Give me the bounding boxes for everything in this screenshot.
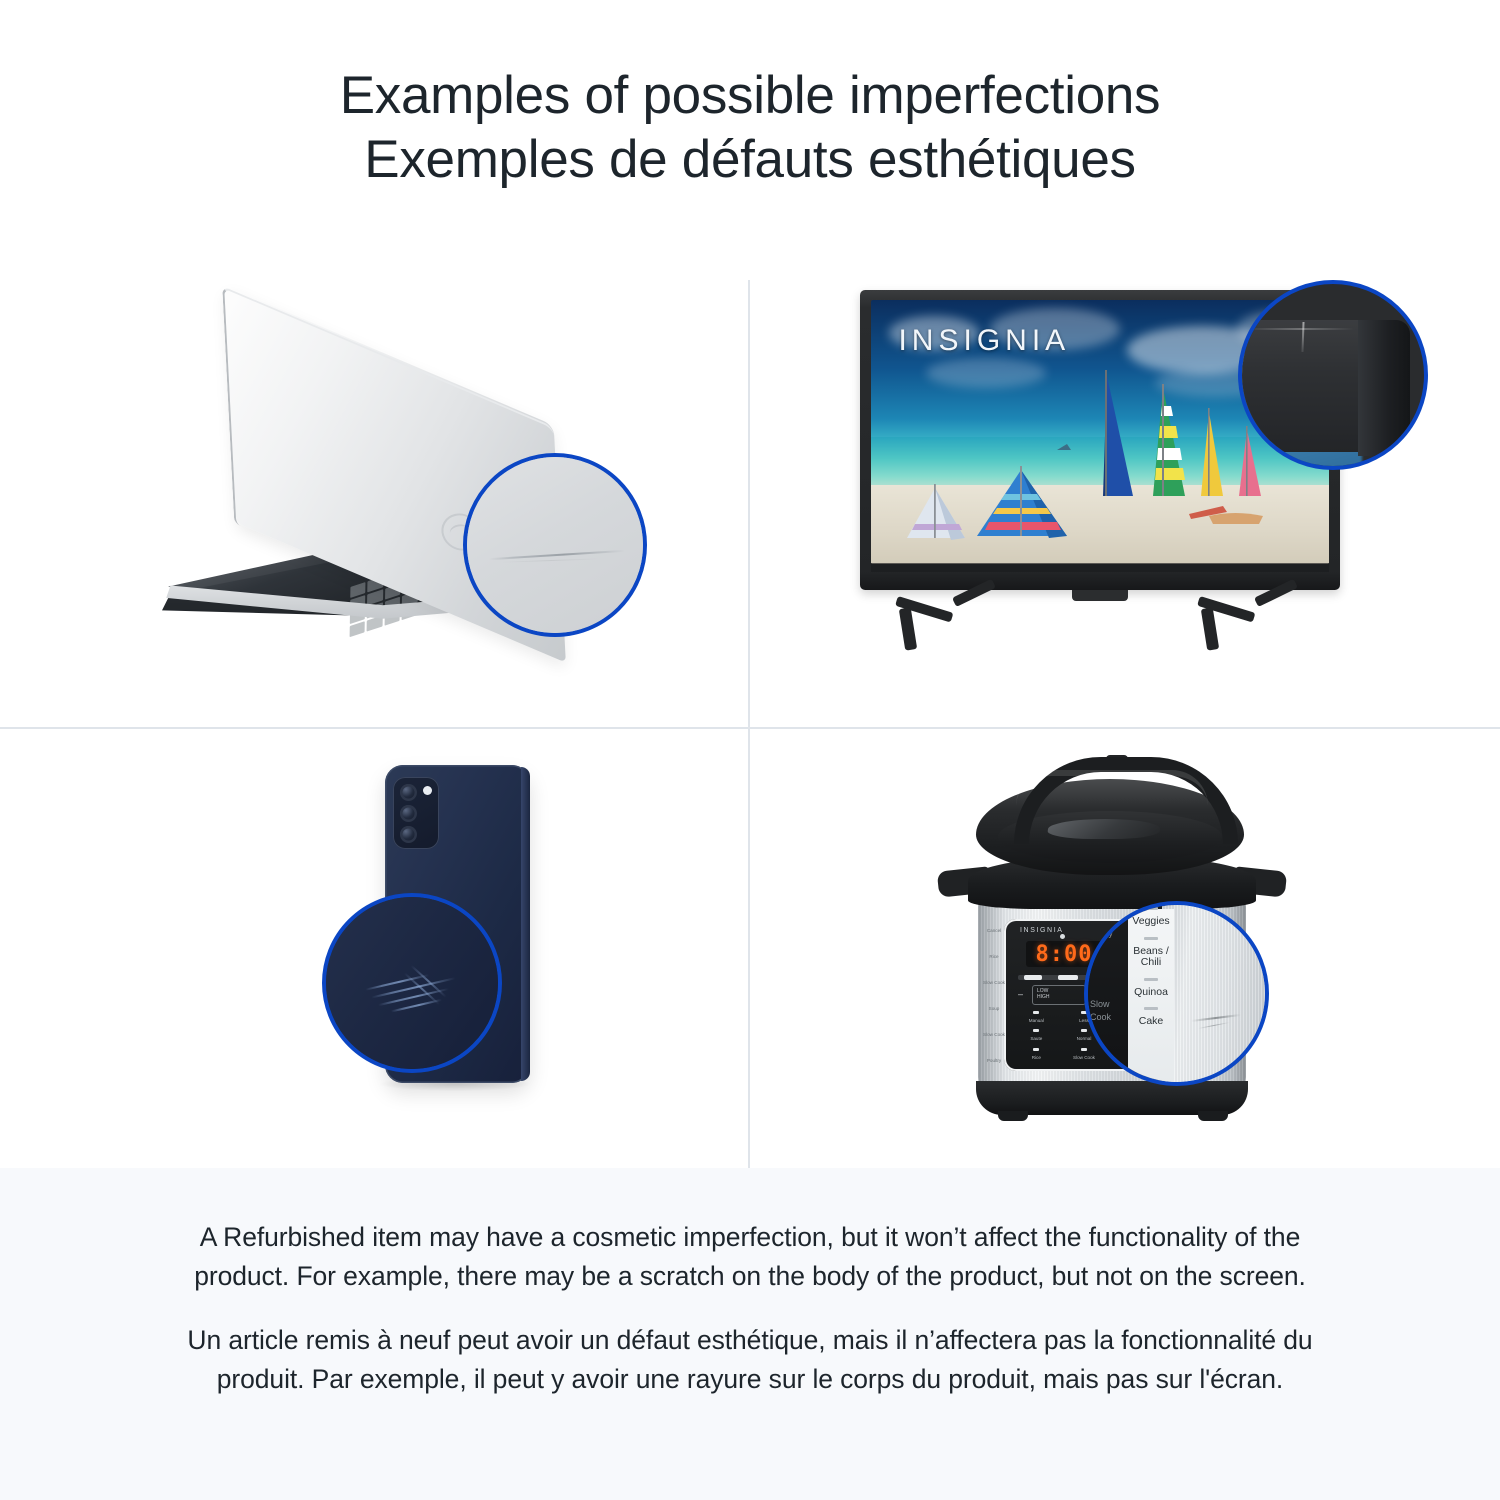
- cooker-left-label-column: Cancel Rice Slow Cook Soup Slow Cook Pou…: [982, 917, 1006, 1073]
- description-paragraph-fr: Un article remis à neuf peut avoir un dé…: [185, 1321, 1315, 1399]
- cooker-brand-label: INSIGNIA: [1020, 927, 1064, 934]
- tv-bottom-bezel: [871, 563, 1329, 572]
- cooker-foot: [1198, 1111, 1228, 1121]
- cooker-display-time: 8:00: [1036, 942, 1093, 967]
- description-paragraph-en: A Refurbished item may have a cosmetic i…: [185, 1218, 1315, 1296]
- pressure-cooker-image: INSIGNIA 8:00 LOWHIGH – + Manual Less De…: [942, 751, 1302, 1151]
- cooker-left-label: Soup: [989, 1006, 1000, 1011]
- magnified-tv-bezel-side: [1358, 320, 1410, 456]
- cooker-left-label: Slow Cook: [983, 980, 1005, 985]
- cooker-key[interactable]: Rice: [1014, 1048, 1059, 1063]
- camera-lens-icon: [400, 805, 417, 822]
- cooker-minus-button[interactable]: –: [1018, 989, 1023, 999]
- magnified-cooker-button[interactable]: Veggies: [1128, 916, 1174, 928]
- scratch-mark-secondary: [500, 558, 603, 563]
- magnified-cooker-button[interactable]: Cake: [1128, 1016, 1174, 1028]
- magnifier-circle-tv: [1238, 280, 1428, 470]
- magnified-side-label: Delay: [1090, 927, 1130, 940]
- camera-lens-icon: [400, 784, 417, 801]
- magnified-cooker-button[interactable]: Beans / Chili: [1128, 946, 1174, 969]
- magnifier-circle-phone: [322, 893, 502, 1073]
- cooker-base: [976, 1081, 1248, 1115]
- phone-side-edge: [521, 767, 530, 1081]
- cooker-left-label: Slow Cook: [983, 1032, 1005, 1037]
- magnifier-circle-laptop: [463, 453, 647, 637]
- cooker-left-label: Poultry: [987, 1058, 1001, 1063]
- cooker-indicator-dot: [1060, 934, 1065, 939]
- tv-stand-leg-left: [898, 596, 994, 652]
- camera-flash-icon: [423, 786, 432, 795]
- cooker-foot: [998, 1111, 1028, 1121]
- scratch-mark-secondary: [1246, 328, 1354, 330]
- camera-lens-icon: [400, 826, 417, 843]
- laptop-image: [150, 358, 620, 648]
- cooker-lid-handle: [1014, 757, 1238, 844]
- panel-tv: INSIGNIA: [750, 258, 1500, 727]
- magnified-cooker-buttons[interactable]: Veggies Beans / Chili Quinoa Cake: [1128, 909, 1174, 1086]
- magnified-laptop-surface: [463, 453, 647, 637]
- cooker-left-label: Rice: [989, 954, 998, 959]
- page-title-en: Examples of possible imperfections: [340, 66, 1161, 126]
- magnified-cooker-steel: [1162, 901, 1269, 1086]
- tv-screen-brand-logo: INSIGNIA: [898, 324, 1070, 358]
- cooker-key[interactable]: Saute: [1014, 1029, 1059, 1044]
- refurbished-imperfections-infographic: Examples of possible imperfections Exemp…: [0, 0, 1500, 1500]
- footer-description: A Refurbished item may have a cosmetic i…: [0, 1168, 1500, 1500]
- camera-module-icon: [393, 777, 439, 849]
- panel-phone: [0, 729, 748, 1168]
- tv-stand-leg-right: [1200, 596, 1296, 652]
- panel-pressure-cooker: INSIGNIA 8:00 LOWHIGH – + Manual Less De…: [750, 729, 1500, 1168]
- magnified-cooker-side-labels: Delay Slow Cook: [1090, 927, 1130, 1024]
- tv-ir-receiver: [1072, 590, 1128, 601]
- tv-image: INSIGNIA: [860, 290, 1360, 670]
- magnified-phone-surface: [322, 893, 502, 1073]
- panel-laptop: [0, 258, 748, 727]
- magnified-side-label: Slow Cook: [1090, 998, 1130, 1024]
- phone-image: [300, 765, 550, 1135]
- page-title-fr: Exemples de défauts esthétiques: [364, 130, 1135, 190]
- magnified-cooker-button[interactable]: Quinoa: [1128, 987, 1174, 999]
- header: Examples of possible imperfections Exemp…: [0, 0, 1500, 258]
- magnifier-circle-cooker: Delay Slow Cook Veggies Beans / Chili Qu…: [1084, 901, 1269, 1086]
- cooker-pressure-selector: LOWHIGH: [1032, 985, 1086, 1005]
- cooker-left-label: Cancel: [987, 928, 1001, 933]
- product-examples-grid: INSIGNIA: [0, 258, 1500, 1168]
- cooker-key[interactable]: Manual: [1014, 1011, 1059, 1026]
